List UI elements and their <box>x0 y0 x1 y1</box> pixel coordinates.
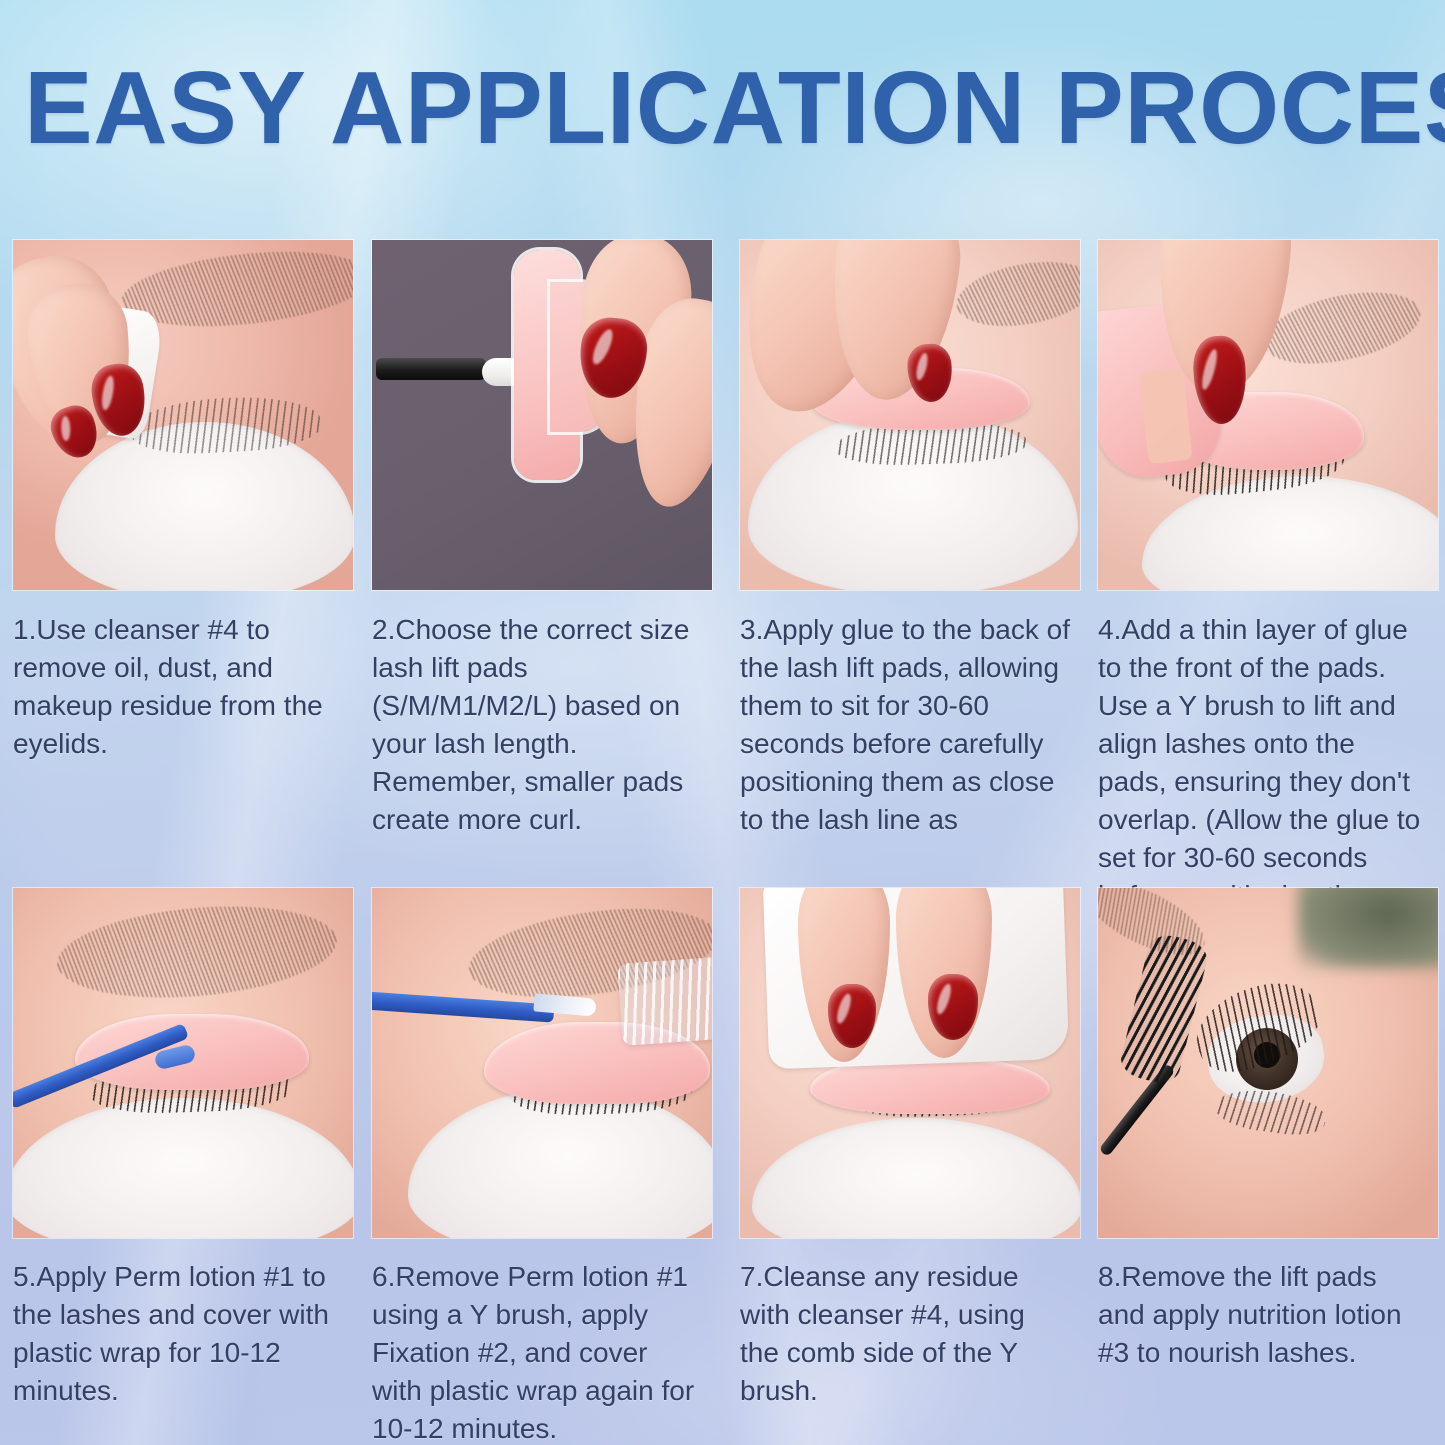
step-6-image-panel <box>372 888 712 1238</box>
step-1-image-panel <box>13 240 353 590</box>
steps-grid: 1.Use cleanser #4 to remove oil, dust, a… <box>0 0 1445 1445</box>
step-8-background-blur <box>1298 888 1438 968</box>
step-4-image-panel <box>1098 240 1438 590</box>
step-7-caption: 7.Cleanse any residue with cleanser #4, … <box>740 1258 1070 1410</box>
step-8-caption: 8.Remove the lift pads and apply nutriti… <box>1098 1258 1428 1372</box>
step-2-applicator-handle <box>376 358 486 380</box>
step-8-image-panel <box>1098 888 1438 1238</box>
step-3-image-panel <box>740 240 1080 590</box>
step-2-image-panel <box>372 240 712 590</box>
step-3-caption: 3.Apply glue to the back of the lash lif… <box>740 611 1070 839</box>
step-7-image-panel <box>740 888 1080 1238</box>
step-4-y-brush-notch <box>1139 368 1192 464</box>
step-5-image-panel <box>13 888 353 1238</box>
step-1-caption: 1.Use cleanser #4 to remove oil, dust, a… <box>13 611 343 763</box>
step-2-caption: 2.Choose the correct size lash lift pads… <box>372 611 702 839</box>
step-6-caption: 6.Remove Perm lotion #1 using a Y brush,… <box>372 1258 702 1445</box>
easy-application-process-infographic: EASY APPLICATION PROCESS 1.Use cleanser … <box>0 0 1445 1445</box>
step-5-caption: 5.Apply Perm lotion #1 to the lashes and… <box>13 1258 343 1410</box>
step-6-plastic-wrap <box>617 956 712 1046</box>
